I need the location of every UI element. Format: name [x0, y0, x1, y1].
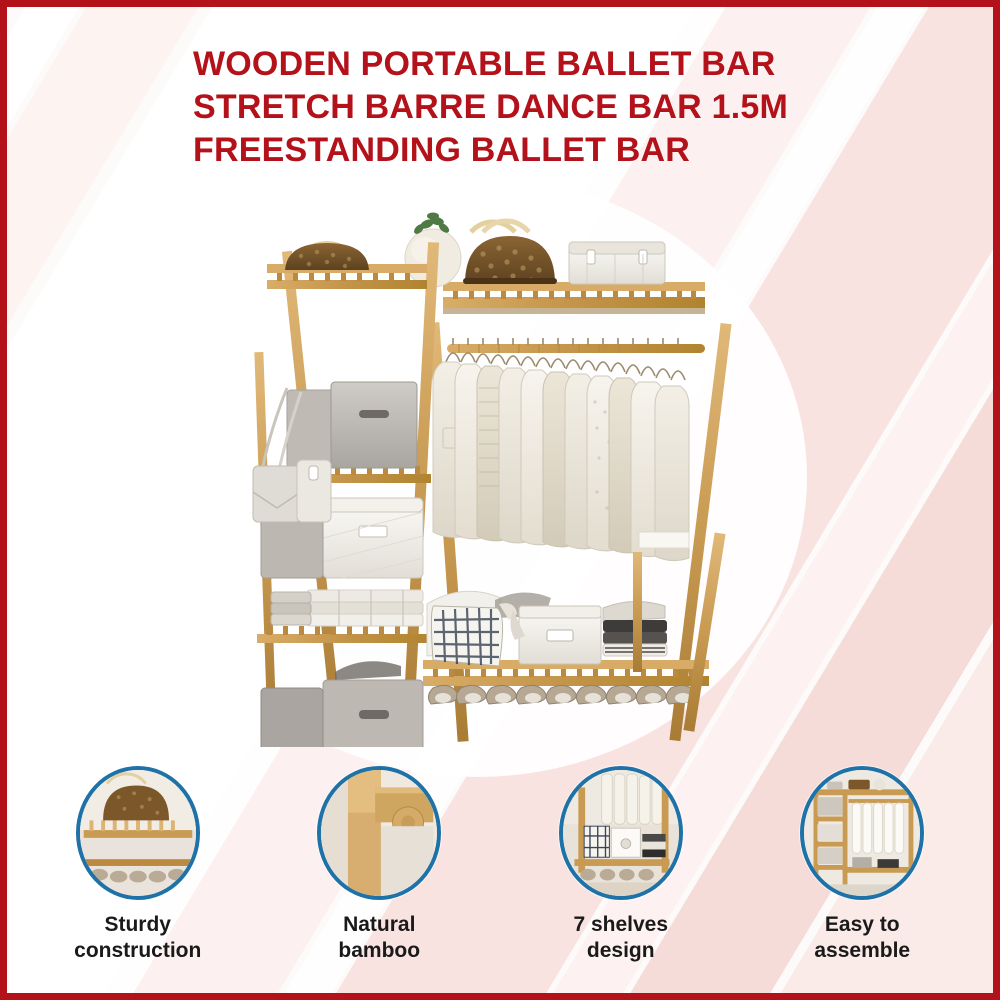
feature-row: Sturdy construction Nat	[17, 766, 983, 971]
feature-thumbnail-easy-to-assemble	[800, 766, 924, 900]
natural-bamboo-icon	[321, 770, 437, 896]
easy-assemble-icon	[804, 770, 920, 896]
feature-caption-7-shelves-design: 7 shelves design	[573, 912, 668, 964]
title-line-1: WOODEN PORTABLE BALLET BAR	[193, 43, 853, 86]
shelves-design-icon	[563, 770, 679, 896]
caption-line-1: 7 shelves	[573, 912, 668, 938]
left-shelf-unit	[253, 242, 439, 747]
duffle-bag	[463, 221, 557, 284]
garment-rack-illustration	[247, 202, 747, 747]
hanging-clothes	[433, 362, 689, 561]
white-storage-box	[510, 606, 601, 664]
product-hero-image	[247, 202, 747, 747]
sturdy-construction-icon	[80, 770, 196, 896]
feature-thumbnail-natural-bamboo	[317, 766, 441, 900]
caption-line-1: Natural	[338, 912, 420, 938]
feature-easy-to-assemble: Easy to assemble	[742, 766, 984, 971]
feature-thumbnail-sturdy-construction	[76, 766, 200, 900]
feature-caption-easy-to-assemble: Easy to assemble	[814, 912, 910, 964]
storage-trunk	[569, 242, 665, 284]
shoe-row	[428, 685, 696, 704]
caption-line-2: assemble	[814, 938, 910, 964]
caption-line-2: bamboo	[338, 938, 420, 964]
feature-caption-natural-bamboo: Natural bamboo	[338, 912, 420, 964]
feature-caption-sturdy-construction: Sturdy construction	[74, 912, 201, 964]
bottom-grey-bin	[261, 661, 423, 747]
hanging-rail	[447, 344, 705, 353]
product-listing-image: WOODEN PORTABLE BALLET BAR STRETCH BARRE…	[0, 0, 1000, 1000]
caption-line-2: construction	[74, 938, 201, 964]
caption-line-2: design	[573, 938, 668, 964]
top-shelf	[443, 282, 705, 314]
title-line-3: FREESTANDING BALLET BAR	[193, 129, 853, 172]
page-title: WOODEN PORTABLE BALLET BAR STRETCH BARRE…	[193, 43, 853, 172]
title-line-2: STRETCH BARRE DANCE BAR 1.5M	[193, 86, 853, 129]
feature-natural-bamboo: Natural bamboo	[259, 766, 501, 971]
grey-storage-bins	[287, 382, 417, 468]
small-duffle-bag	[285, 243, 369, 270]
feature-sturdy-construction: Sturdy construction	[17, 766, 259, 971]
caption-line-1: Sturdy	[74, 912, 201, 938]
caption-line-1: Easy to	[814, 912, 910, 938]
feature-7-shelves-design: 7 shelves design	[500, 766, 742, 971]
folded-clothes-stack	[271, 590, 423, 626]
white-quilted-box	[323, 498, 423, 578]
feature-thumbnail-7-shelves-design	[559, 766, 683, 900]
